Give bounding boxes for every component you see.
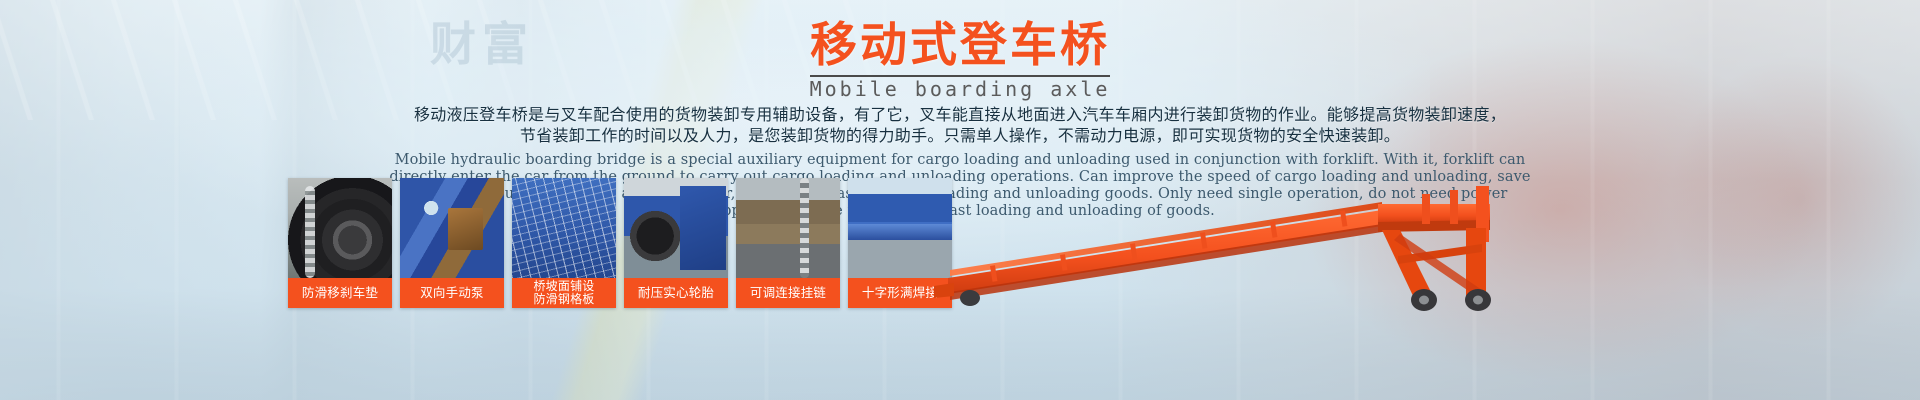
feature-label: 双向手动泵 [400,278,504,308]
feature-card-cross-weld[interactable]: 十字形满焊接 [848,178,952,308]
steel-grating-photo [512,178,616,278]
description-chinese-line-2: 节省装卸工作的时间以及人力，是您装卸货物的得力助手。只需单人操作，不需动力电源，… [340,125,1580,146]
subtitle-rule: Mobile boarding axle [810,75,1111,101]
brake-pad-photo [288,178,392,278]
page-title: 移动式登车桥 [0,22,1920,69]
page-subtitle: Mobile boarding axle [810,78,1111,101]
adjustable-chain-photo [736,178,840,278]
feature-card-brake-pad[interactable]: 防滑移刹车垫 [288,178,392,308]
description-chinese: 移动液压登车桥是与叉车配合使用的货物装卸专用辅助设备，有了它，叉车能直接从地面进… [340,104,1580,146]
feature-card-hand-pump[interactable]: 双向手动泵 [400,178,504,308]
feature-label: 桥坡面铺设 防滑钢格板 [512,278,616,308]
description-chinese-line-1: 移动液压登车桥是与叉车配合使用的货物装卸专用辅助设备，有了它，叉车能直接从地面进… [340,104,1580,125]
feature-label: 可调连接挂链 [736,278,840,308]
feature-thumbnail-strip: 防滑移刹车垫 双向手动泵 桥坡面铺设 防滑钢格板 耐压实心轮胎 可调连接挂链 [288,178,952,308]
feature-card-adjustable-chain[interactable]: 可调连接挂链 [736,178,840,308]
feature-label-line-2: 防滑钢格板 [533,292,594,306]
promotional-banner: 财富 移动式登车桥 Mobile boarding axle 移动液压登车桥是与… [0,0,1920,400]
feature-label: 十字形满焊接 [848,278,952,308]
feature-card-solid-tire[interactable]: 耐压实心轮胎 [624,178,728,308]
feature-label: 防滑移刹车垫 [288,278,392,308]
cross-weld-photo [848,178,952,278]
solid-tire-photo [624,178,728,278]
title-block: 移动式登车桥 Mobile boarding axle [0,22,1920,101]
feature-label-line-1: 桥坡面铺设 [533,279,594,293]
feature-card-steel-grating[interactable]: 桥坡面铺设 防滑钢格板 [512,178,616,308]
feature-label: 耐压实心轮胎 [624,278,728,308]
hand-pump-photo [400,178,504,278]
